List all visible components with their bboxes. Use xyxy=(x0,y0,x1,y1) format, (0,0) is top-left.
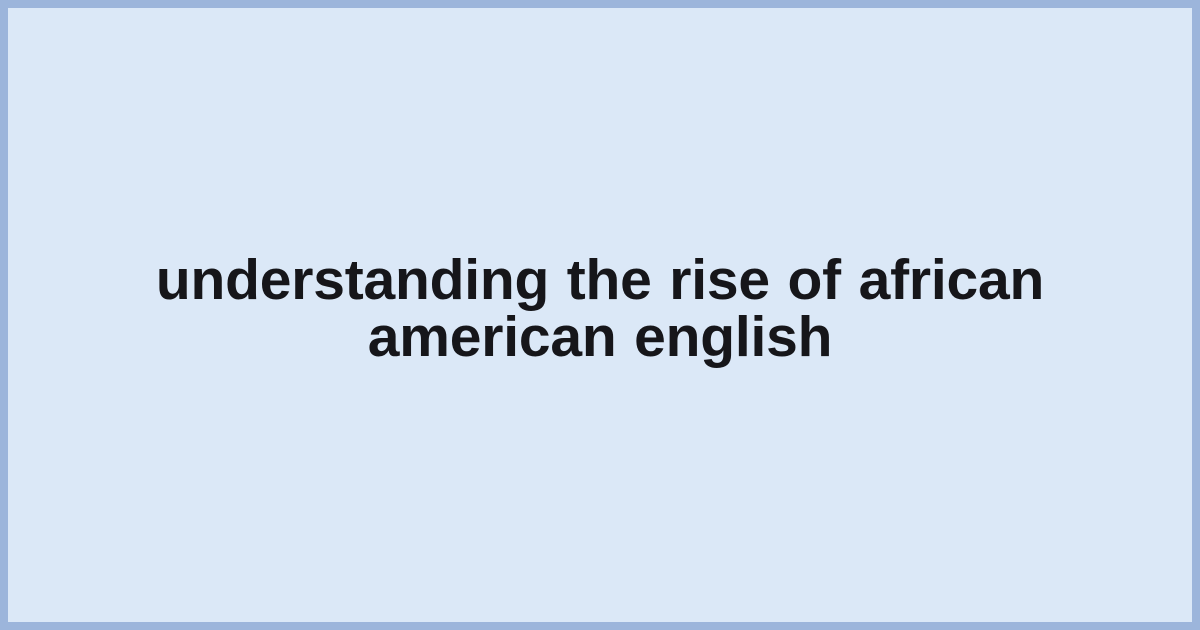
page-title: understanding the rise of african americ… xyxy=(28,252,1172,366)
title-card: understanding the rise of african americ… xyxy=(0,0,1200,630)
title-block: understanding the rise of african americ… xyxy=(20,252,1180,366)
